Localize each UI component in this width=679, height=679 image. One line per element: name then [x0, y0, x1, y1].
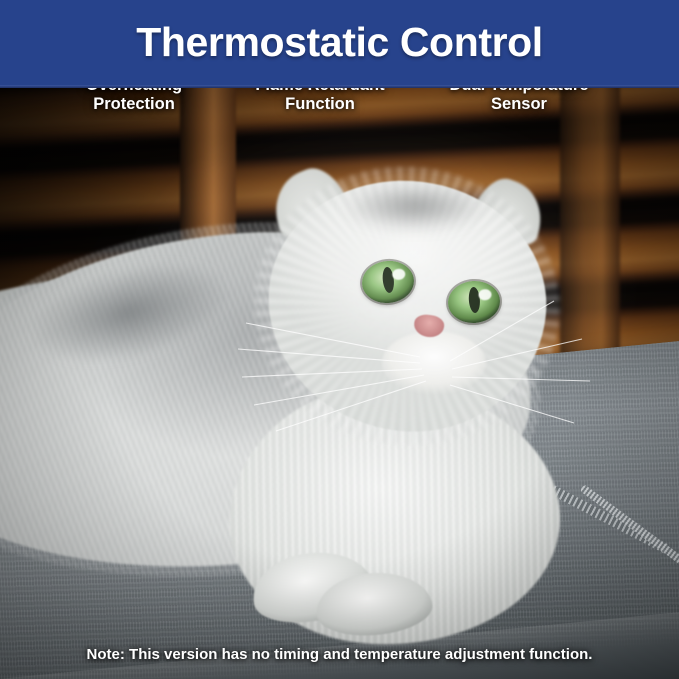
header-banner: Thermostatic Control: [0, 0, 679, 85]
product-feature-poster: Thermostatic Control: [0, 0, 679, 679]
disclaimer-note: Note: This version has no timing and tem…: [0, 646, 679, 663]
cat-eye-glint-right: [478, 289, 492, 301]
page-title: Thermostatic Control: [136, 19, 543, 66]
cat-muzzle: [382, 331, 486, 395]
banner-underline: [0, 85, 679, 88]
cat-eye-glint-left: [392, 268, 406, 280]
product-photo: [0, 85, 679, 679]
cat-head-marking: [330, 173, 500, 229]
